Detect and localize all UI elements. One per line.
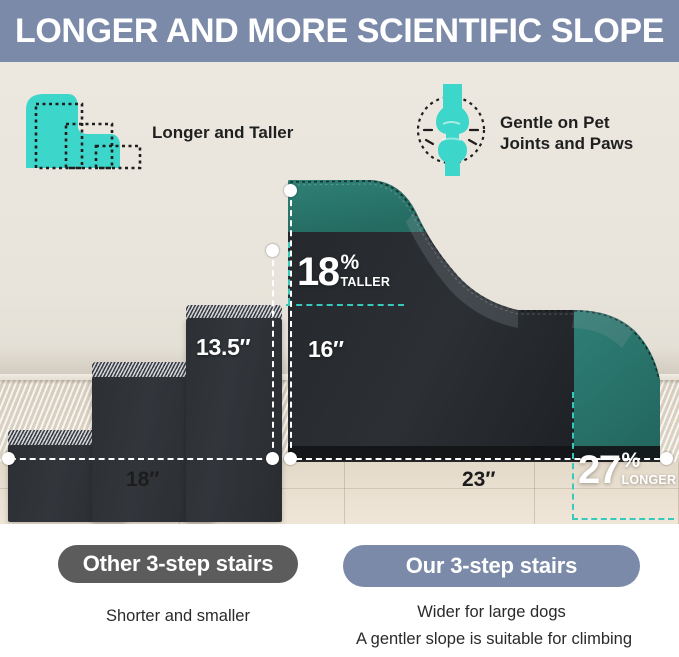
longer-guide-vertical bbox=[572, 392, 574, 520]
depth-label-left: 18″ bbox=[126, 468, 159, 492]
height-line-left bbox=[272, 250, 274, 458]
taller-badge-word: TALLER bbox=[341, 275, 391, 289]
depth-dot-left-start bbox=[2, 452, 15, 465]
depth-line-left bbox=[10, 458, 272, 460]
pill-our-3-step-stairs[interactable]: Our 3-step stairs bbox=[343, 545, 640, 587]
longer-badge-number: 27 bbox=[578, 451, 620, 489]
measure-dot-left-top bbox=[266, 244, 279, 257]
longer-guide-horizontal bbox=[572, 518, 674, 520]
height-label-left: 13.5″ bbox=[196, 334, 250, 361]
caption-our-stairs-line-2: A gentler slope is suitable for climbing bbox=[324, 627, 664, 652]
taller-badge: 18 % TALLER bbox=[297, 253, 390, 291]
taller-guide-horizontal bbox=[286, 304, 404, 306]
header-banner: LONGER AND MORE SCIENTIFIC SLOPE bbox=[0, 0, 679, 62]
depth-label-right: 23″ bbox=[462, 468, 495, 492]
taller-badge-percent-sign: % bbox=[341, 253, 391, 272]
height-label-right: 16″ bbox=[308, 336, 344, 363]
depth-dot-right-end bbox=[660, 452, 673, 465]
page-title: LONGER AND MORE SCIENTIFIC SLOPE bbox=[15, 12, 664, 51]
caption-other-stairs: Shorter and smaller bbox=[58, 604, 298, 629]
taller-badge-number: 18 bbox=[297, 253, 339, 291]
infographic-root: LONGER AND MORE SCIENTIFIC SLOPE bbox=[0, 0, 679, 657]
caption-our-stairs-line-1: Wider for large dogs bbox=[343, 600, 640, 625]
product-comparison-scene: Longer and Taller G bbox=[0, 62, 679, 524]
height-line-right bbox=[290, 190, 292, 458]
depth-line-right bbox=[296, 458, 670, 460]
longer-badge-word: LONGER bbox=[622, 473, 677, 487]
product-other-3-step-stairs bbox=[0, 62, 290, 524]
measure-dot-right-top bbox=[284, 184, 297, 197]
pill-other-3-step-stairs[interactable]: Other 3-step stairs bbox=[58, 545, 298, 583]
